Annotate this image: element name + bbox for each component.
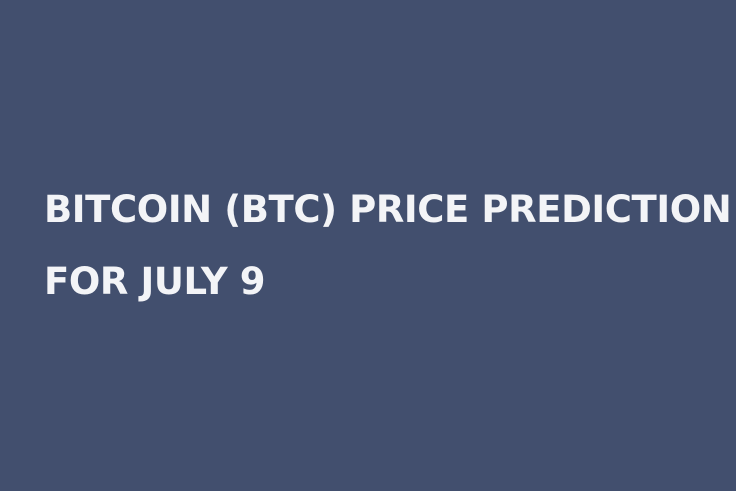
- article-hero-banner: BITCOIN (BTC) PRICE PREDICTION FOR JULY …: [0, 0, 736, 491]
- page-title-line-1: BITCOIN (BTC) PRICE PREDICTION: [44, 192, 664, 228]
- page-title: BITCOIN (BTC) PRICE PREDICTION FOR JULY …: [44, 156, 664, 336]
- page-title-line-2: FOR JULY 9: [44, 264, 664, 300]
